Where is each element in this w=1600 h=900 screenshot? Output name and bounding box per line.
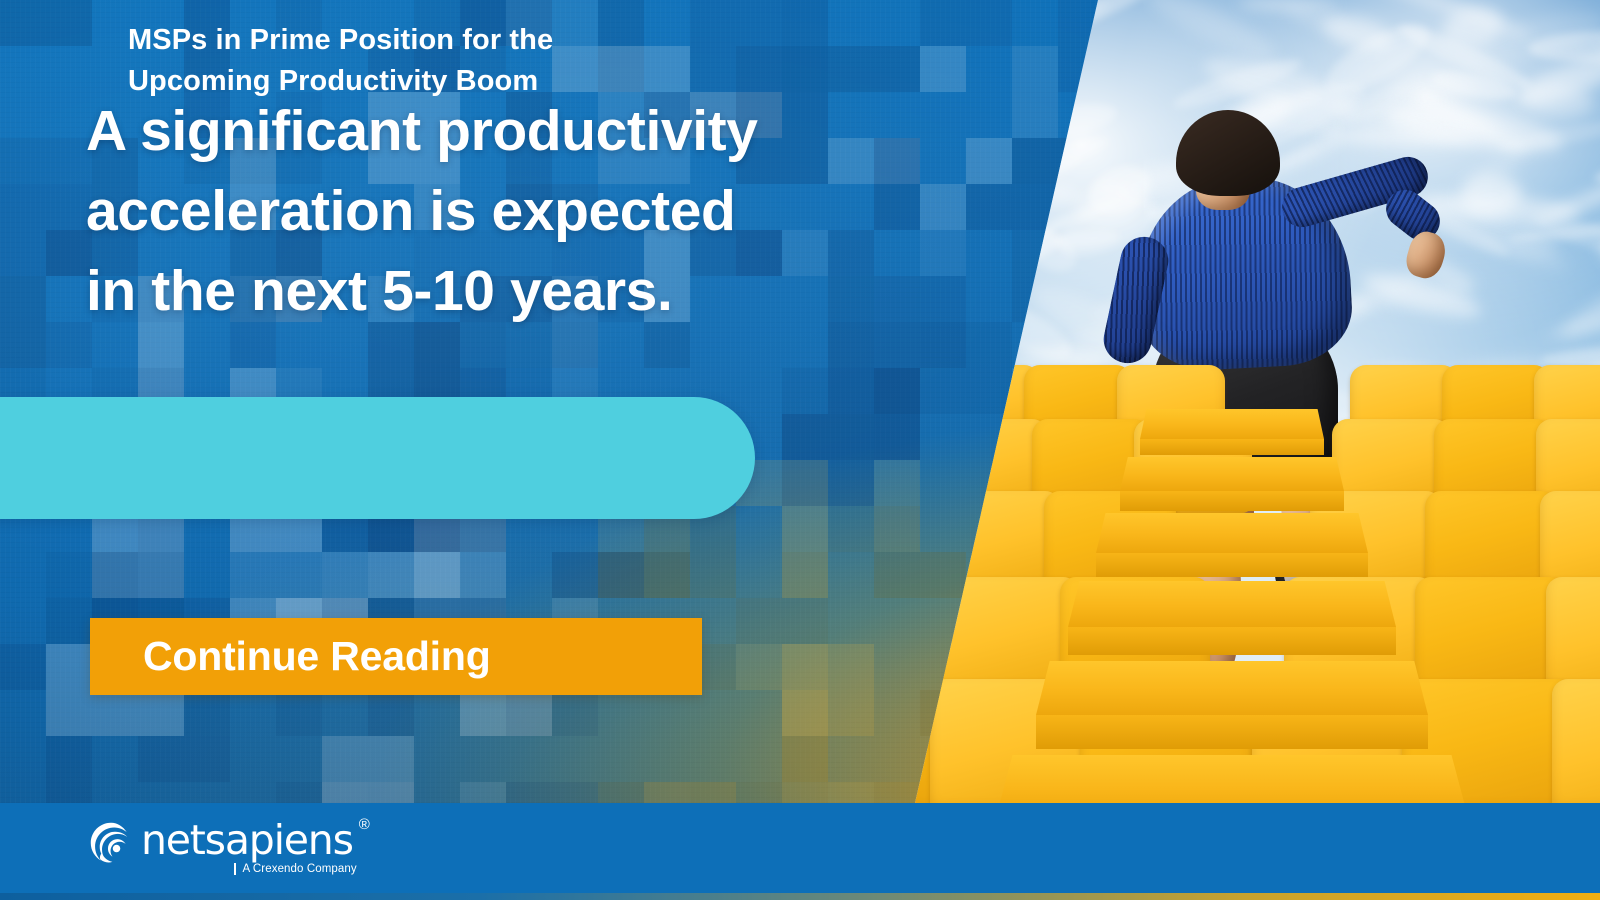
netsapiens-word: netsapiens <box>141 816 353 864</box>
stadium-seat <box>1552 679 1600 803</box>
netsapiens-wordmark: netsapiens ® A Crexendo Company <box>141 818 353 862</box>
stair-tread <box>996 755 1468 803</box>
continue-reading-label: Continue Reading <box>143 633 491 680</box>
headline-line-2: acceleration is expected <box>86 172 986 252</box>
footer-accent-strip <box>0 893 1600 900</box>
stair-tread <box>1096 513 1368 553</box>
stadium-seat <box>1546 577 1600 695</box>
headline-line-1: A significant productivity <box>86 92 986 172</box>
stair-tread <box>1120 457 1344 491</box>
stadium-seat <box>1415 577 1565 695</box>
runner-head-hair <box>1176 110 1280 196</box>
article-title-banner <box>0 397 755 519</box>
article-title-line-1: MSPs in Prime Position for the <box>128 20 748 61</box>
logo-tagline: A Crexendo Company <box>234 863 356 875</box>
netsapiens-swirl-icon <box>88 820 134 866</box>
stair-tread <box>1140 409 1324 439</box>
continue-reading-button[interactable]: Continue Reading <box>90 618 702 695</box>
stair-riser <box>1096 553 1368 577</box>
stair-riser <box>1140 439 1324 455</box>
stair-tread <box>1036 661 1428 715</box>
netsapiens-logo[interactable]: netsapiens ® A Crexendo Company <box>88 818 353 866</box>
article-title-line-2: Upcoming Productivity Boom <box>128 61 748 102</box>
stair-riser <box>1120 491 1344 511</box>
promo-banner: A significant productivity acceleration … <box>0 0 1600 900</box>
headline-line-3: in the next 5-10 years. <box>86 252 986 332</box>
registered-trademark-icon: ® <box>359 817 370 832</box>
stair-tread <box>1068 581 1396 627</box>
page-title: A significant productivity acceleration … <box>86 92 986 331</box>
stair-riser <box>1036 715 1428 749</box>
stair-riser <box>1068 627 1396 655</box>
article-title-text: MSPs in Prime Position for the Upcoming … <box>128 20 748 102</box>
